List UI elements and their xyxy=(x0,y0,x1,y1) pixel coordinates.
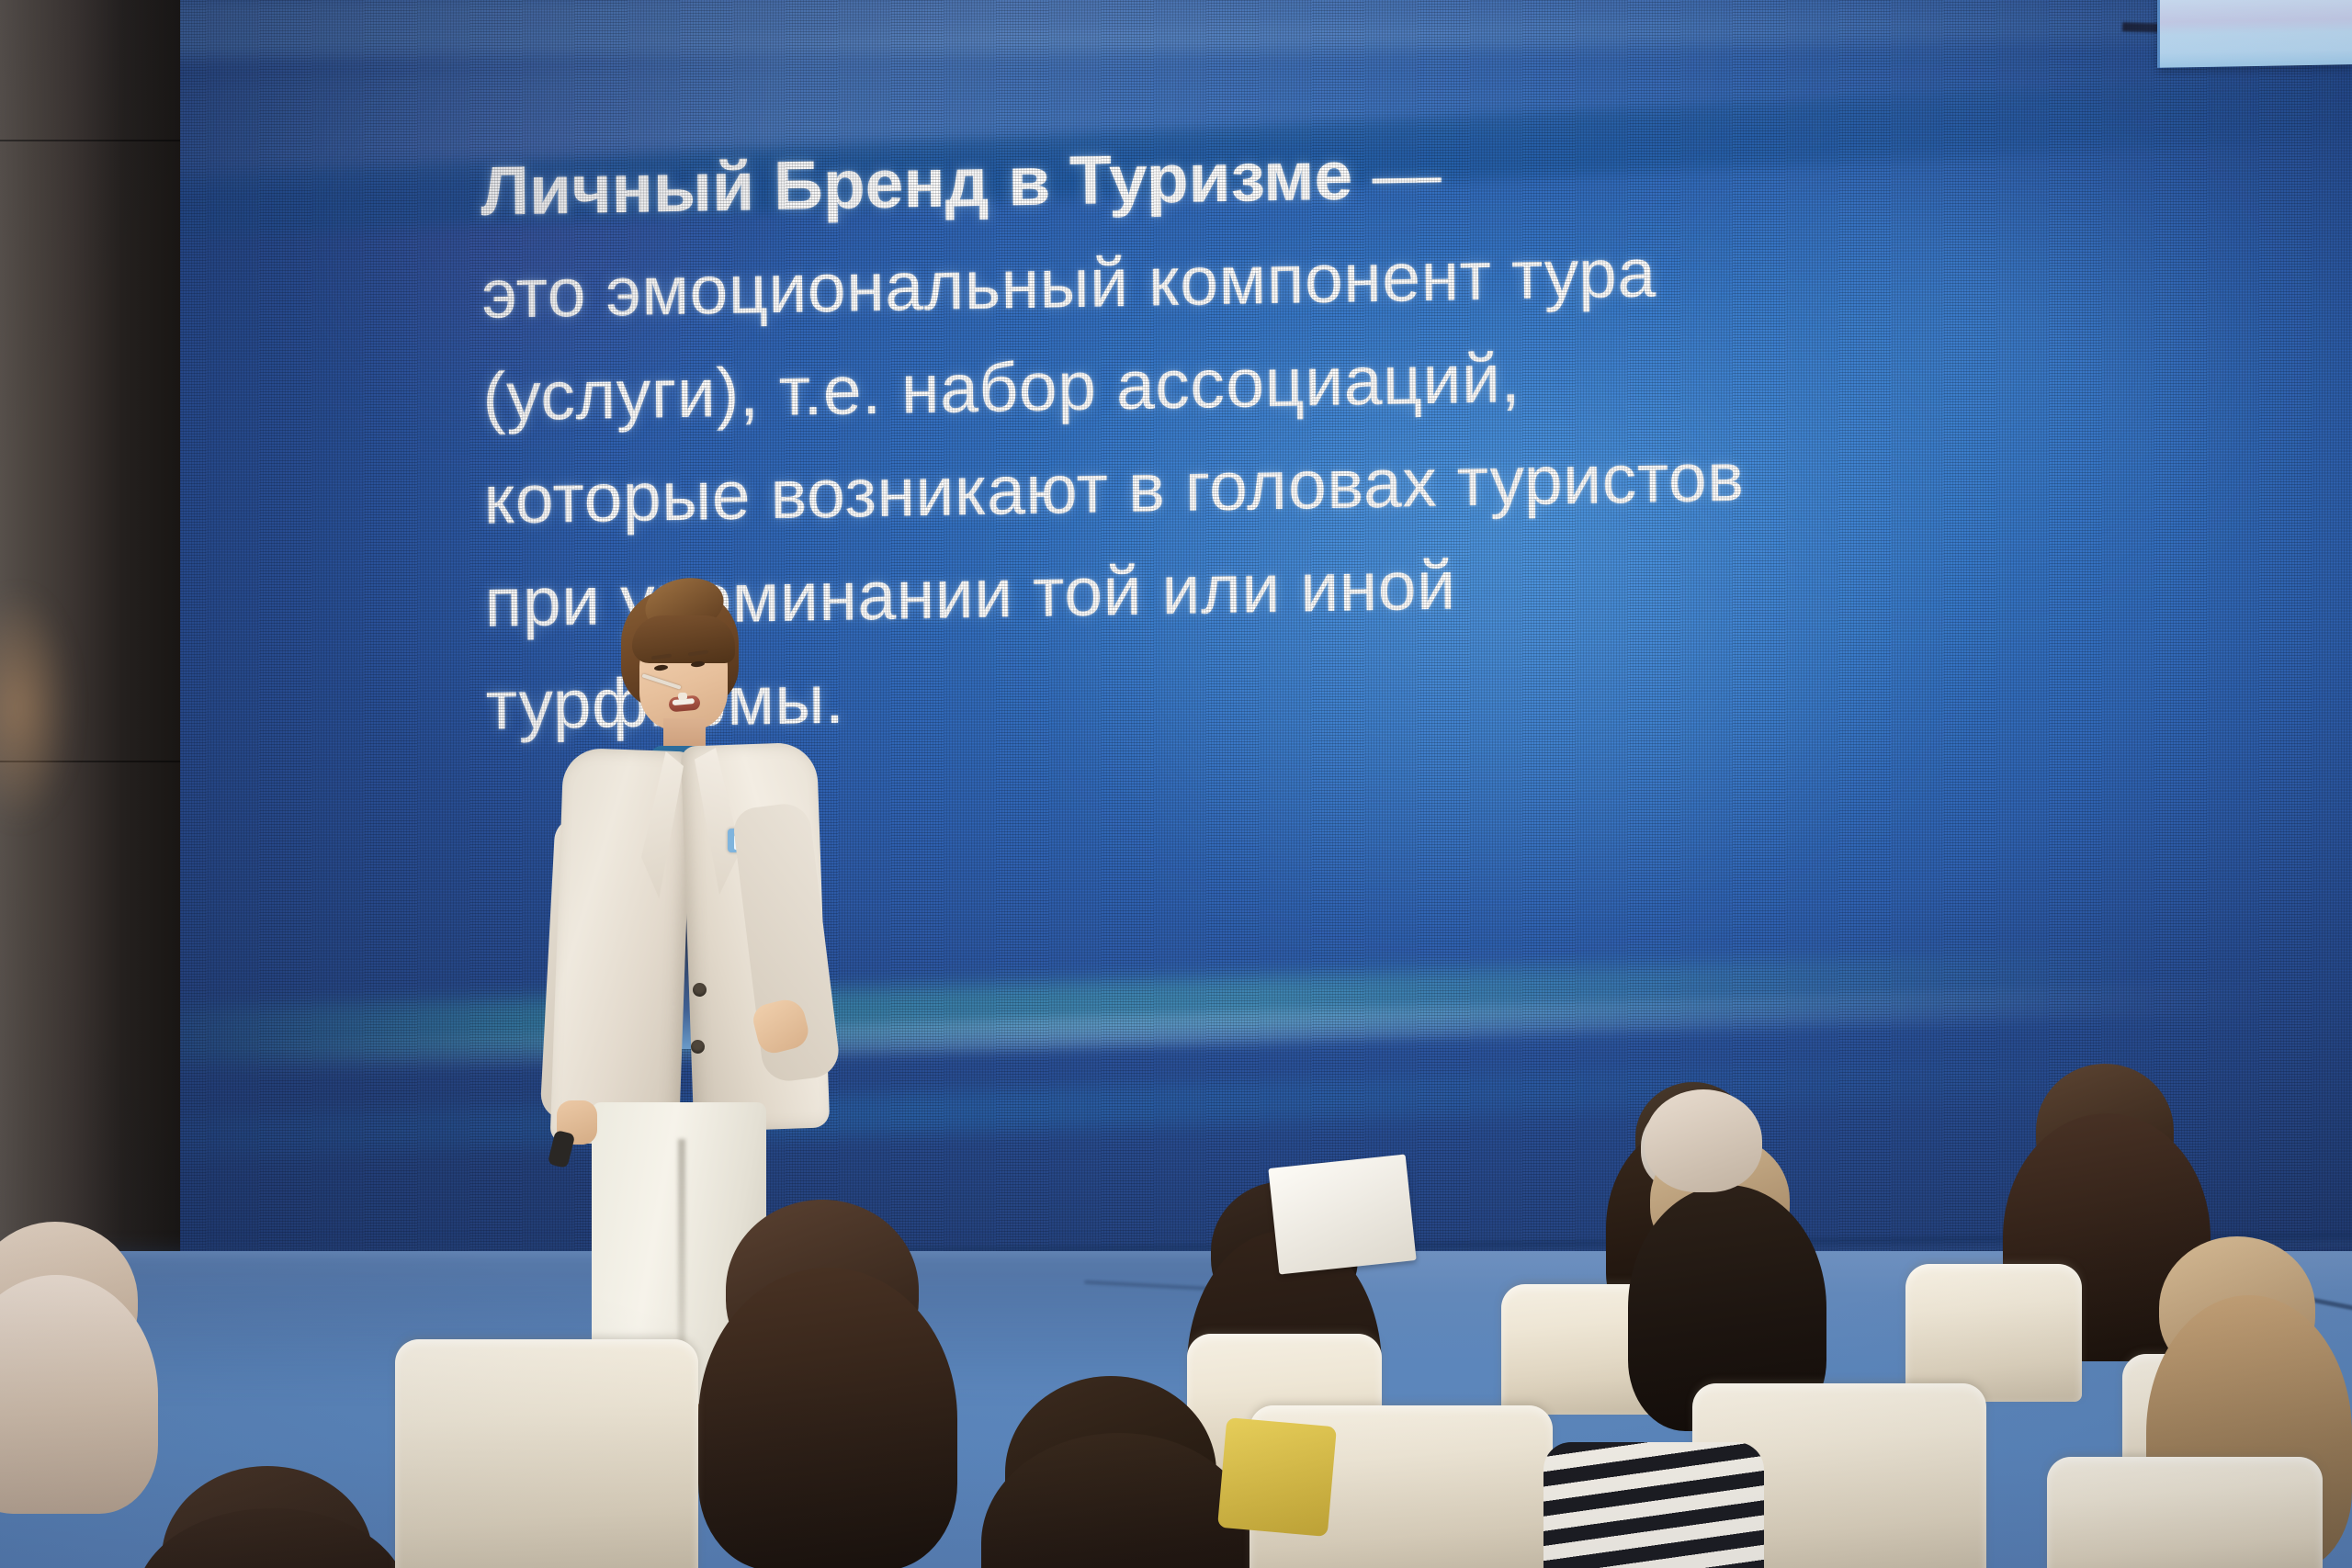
presenter-clicker xyxy=(548,1130,576,1168)
jacket-button xyxy=(691,1040,705,1054)
led-presentation-screen: Личный Бренд в Туризме — это эмоциональн… xyxy=(180,0,2352,1297)
slide-title-dash: — xyxy=(1352,135,1442,214)
attendee-striped-shirt xyxy=(1543,1442,1764,1568)
attendee-held-paper xyxy=(1268,1154,1416,1274)
screen-light-sweep xyxy=(180,969,2352,1081)
screen-dark-sweep xyxy=(180,1034,2352,1165)
wall-warm-glow xyxy=(0,588,73,827)
attendee-yellow-garment xyxy=(1217,1417,1337,1537)
screen-light-sweep xyxy=(180,0,2352,61)
conference-stage-scene: Личный Бренд в Туризме — это эмоциональн… xyxy=(0,0,2352,1568)
attendee-hair xyxy=(698,1268,957,1568)
auxiliary-display-panel xyxy=(2157,0,2352,68)
audience-chair xyxy=(2047,1457,2323,1568)
attendee-head xyxy=(1645,1089,1762,1192)
speaker-fringe xyxy=(632,615,735,663)
wall-panel-seam xyxy=(0,140,180,141)
headset-microphone-tip xyxy=(678,693,687,700)
screen-teal-sweep xyxy=(180,934,2352,1070)
audience-chair xyxy=(1905,1264,2082,1402)
jacket-button xyxy=(693,983,707,997)
audience-chair xyxy=(395,1339,698,1568)
slide-title-bold: Личный Бренд в Туризме xyxy=(481,136,1353,229)
